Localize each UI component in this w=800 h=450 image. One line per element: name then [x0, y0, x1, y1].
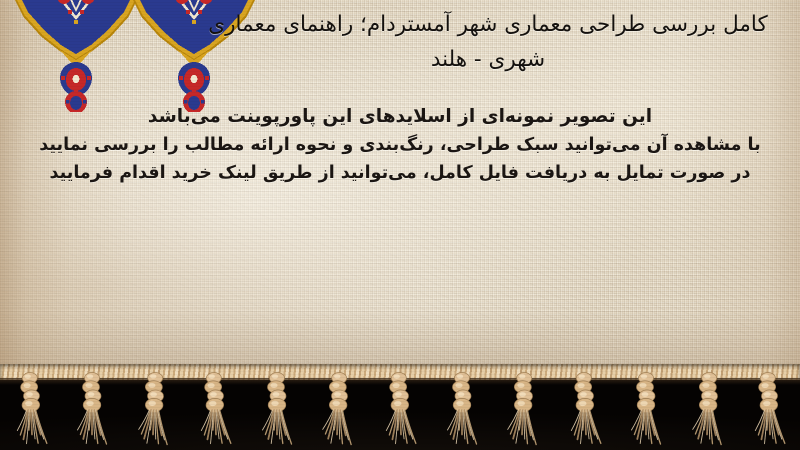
fringe-tassel	[495, 371, 552, 447]
fringe-tassel	[372, 371, 429, 447]
fringe-tassel	[250, 372, 304, 446]
body-line-3: در صورت تمایل به دریافت فایل کامل، می‌تو…	[16, 165, 784, 183]
body-line-1: این تصویر نمونه‌ای از اسلایدهای این پاور…	[16, 108, 784, 127]
slide-canvas: کامل بررسی طراحی معماری شهر آمستردام؛ را…	[0, 0, 800, 450]
slide-body: این تصویر نمونه‌ای از اسلایدهای این پاور…	[16, 108, 784, 193]
body-line-2: با مشاهده آن می‌توانید سبک طراحی، رنگ‌بن…	[16, 137, 784, 155]
fringe-tassel	[187, 371, 244, 447]
fringe-tassel	[435, 372, 489, 446]
fringe-tassel	[556, 371, 613, 447]
fringe-tassel	[65, 372, 119, 446]
fringe-tassel	[619, 372, 673, 446]
fringe-tassel	[310, 371, 367, 447]
slide-title: کامل بررسی طراحی معماری شهر آمستردام؛ را…	[198, 8, 778, 78]
fringe-tassel	[741, 371, 798, 447]
carpet-fringe-band	[0, 364, 800, 450]
slide-title-text: کامل بررسی طراحی معماری شهر آمستردام؛ را…	[208, 12, 767, 72]
fringe-tassel	[679, 371, 736, 447]
fringe-tassel	[125, 371, 182, 447]
fringe-tassel	[2, 371, 59, 447]
